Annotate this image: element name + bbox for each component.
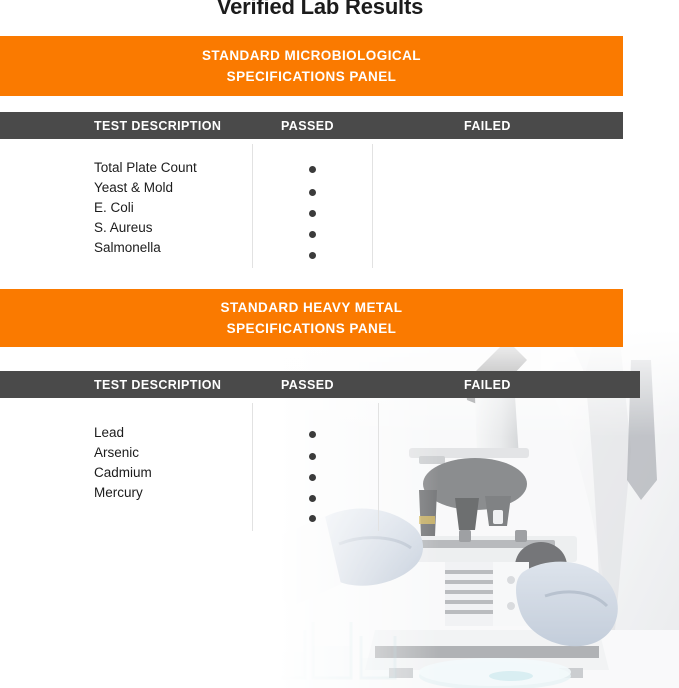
passed-dot — [309, 231, 316, 238]
passed-dot — [309, 210, 316, 217]
microbiological-panel-banner: STANDARD MICROBIOLOGICAL SPECIFICATIONS … — [0, 36, 623, 96]
table-row: Arsenic — [94, 445, 152, 460]
table-row: Cadmium — [94, 465, 152, 480]
microbiological-table-body: Total Plate Count Yeast & Mold E. Coli S… — [0, 144, 623, 268]
passed-dot — [309, 431, 316, 438]
heavy-metal-table-body: Lead Arsenic Cadmium Mercury — [0, 403, 640, 531]
passed-dot — [309, 474, 316, 481]
heavy-metal-panel-banner: STANDARD HEAVY METAL SPECIFICATIONS PANE… — [0, 289, 623, 347]
column-divider-left — [252, 144, 253, 268]
microbiological-test-list: Total Plate Count Yeast & Mold E. Coli S… — [94, 160, 197, 260]
passed-dot — [309, 495, 316, 502]
heavy-metal-banner-line-1: STANDARD HEAVY METAL — [220, 297, 402, 318]
table-row: Yeast & Mold — [94, 180, 197, 195]
table-row: Lead — [94, 425, 152, 440]
column-header-test-description: TEST DESCRIPTION — [94, 119, 221, 133]
passed-dot — [309, 252, 316, 259]
passed-dot — [309, 189, 316, 196]
column-header-passed: PASSED — [281, 378, 334, 392]
table-row: Salmonella — [94, 240, 197, 255]
column-divider-left — [252, 403, 253, 531]
heavy-metal-table-header: TEST DESCRIPTION PASSED FAILED — [0, 371, 640, 398]
table-row: Total Plate Count — [94, 160, 197, 175]
microbiological-table-header: TEST DESCRIPTION PASSED FAILED — [0, 112, 623, 139]
verified-lab-results-report: Verified Lab Results STANDARD MICROBIOLO… — [0, 0, 679, 688]
microbiological-banner-line-1: STANDARD MICROBIOLOGICAL — [202, 45, 421, 66]
column-header-passed: PASSED — [281, 119, 334, 133]
table-row: E. Coli — [94, 200, 197, 215]
heavy-metal-banner-line-2: SPECIFICATIONS PANEL — [227, 318, 397, 339]
column-header-failed: FAILED — [464, 119, 511, 133]
column-header-failed: FAILED — [464, 378, 511, 392]
passed-dot — [309, 453, 316, 460]
heavy-metal-test-list: Lead Arsenic Cadmium Mercury — [94, 425, 152, 505]
microbiological-banner-line-2: SPECIFICATIONS PANEL — [227, 66, 397, 87]
column-divider-right — [372, 144, 373, 268]
table-row: S. Aureus — [94, 220, 197, 235]
passed-dot — [309, 515, 316, 522]
passed-dot — [309, 166, 316, 173]
page-title: Verified Lab Results — [0, 0, 640, 20]
column-divider-right — [378, 403, 379, 531]
table-row: Mercury — [94, 485, 152, 500]
column-header-test-description: TEST DESCRIPTION — [94, 378, 221, 392]
